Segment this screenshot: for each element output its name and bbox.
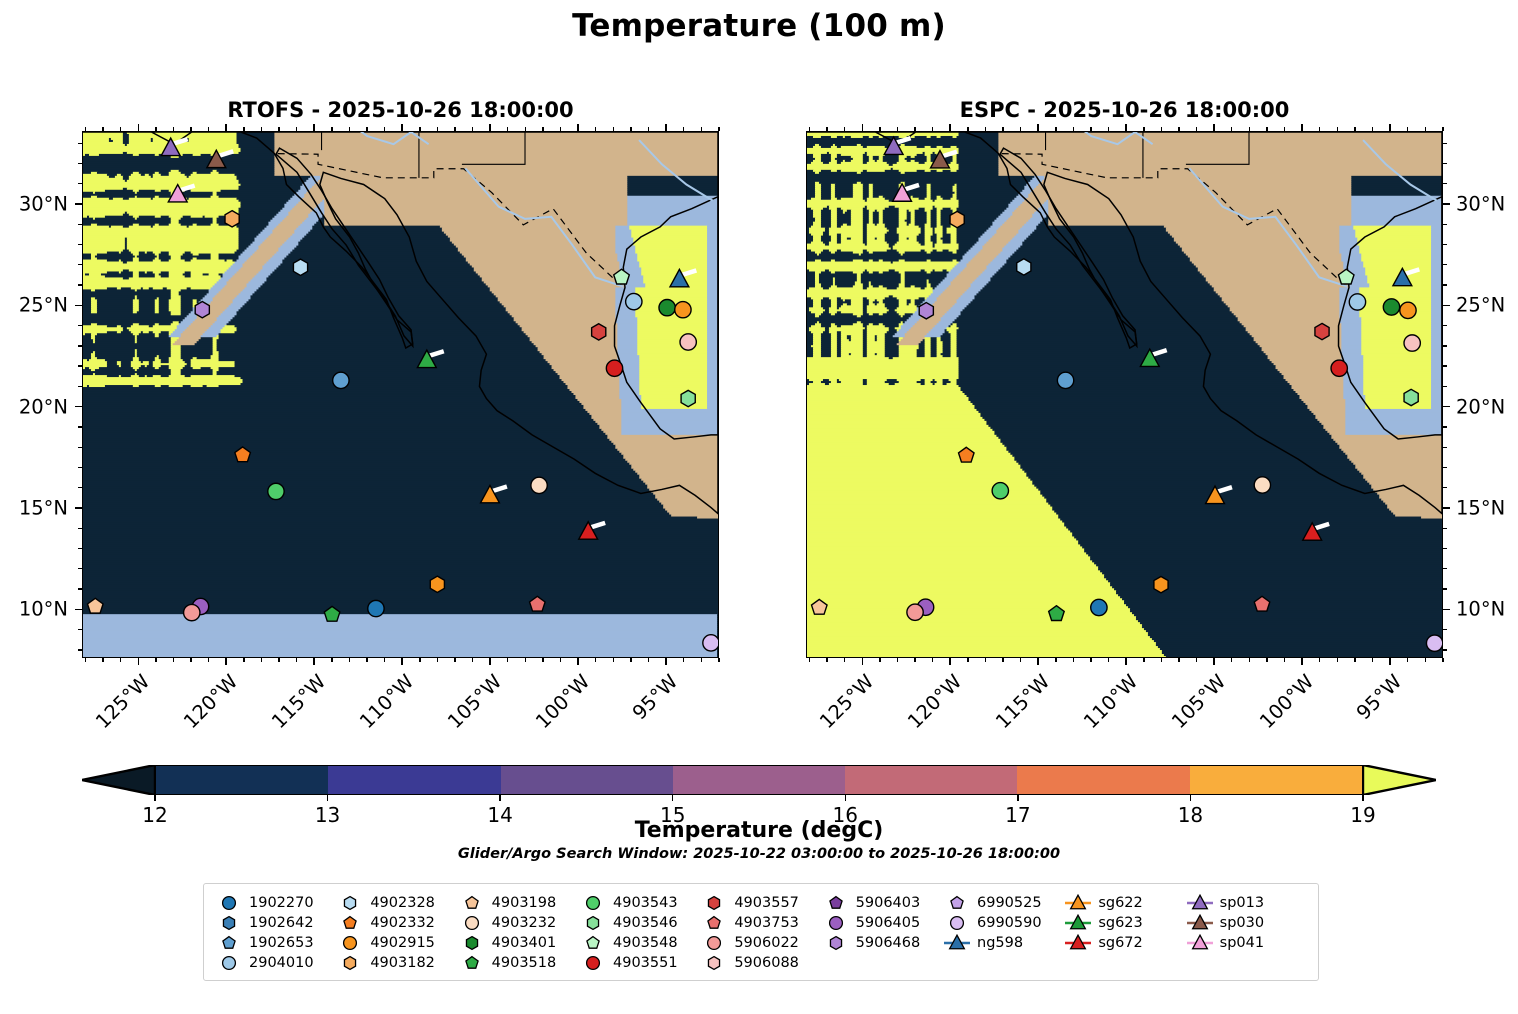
ytick-minor (1443, 629, 1447, 630)
xtick-minor (331, 658, 332, 662)
legend-item[interactable]: 5906405 (823, 913, 944, 933)
xtick-minor-top (208, 127, 209, 131)
xtick-minor-top (419, 127, 420, 131)
platform-legend: 1902270190264219026532904010490232849023… (203, 883, 1319, 981)
xtick-minor-top (1354, 127, 1355, 131)
legend-marker-icon (580, 914, 606, 932)
xtick-major (1301, 658, 1303, 665)
xtick-minor (1231, 658, 1232, 662)
colorbar-segment (845, 766, 1017, 794)
map-panel-espc: ESPC - 2025-10-26 18:00:00 (806, 131, 1443, 658)
xtick-minor (1284, 658, 1285, 662)
xtick-minor-top (1249, 127, 1250, 131)
ytick-minor (78, 264, 82, 265)
xtick-major (1389, 658, 1391, 665)
ytick-label: 10°N (0, 598, 68, 621)
xtick-label: 105°W (1152, 670, 1230, 748)
xtick-minor (914, 658, 915, 662)
legend-marker-icon (1187, 894, 1213, 912)
legend-marker-icon (337, 934, 363, 952)
legend-item-label: 5906022 (734, 934, 799, 952)
map-canvas-rtofs[interactable] (82, 131, 719, 658)
ytick-minor (1443, 284, 1447, 285)
ytick-major (1443, 406, 1450, 408)
legend-item[interactable]: 4903198 (459, 893, 580, 913)
legend-item[interactable]: 1902270 (216, 893, 337, 913)
legend-marker-icon (823, 894, 849, 912)
xtick-minor (967, 658, 968, 662)
xtick-minor-top (914, 127, 915, 131)
xtick-minor-top (1196, 127, 1197, 131)
legend-item-label: 4903518 (492, 954, 557, 972)
legend-item-label: 4903546 (613, 914, 678, 932)
colorbar-tick (672, 795, 674, 801)
xtick-minor (437, 658, 438, 662)
xtick-minor (1354, 658, 1355, 662)
xtick-major (862, 658, 864, 665)
legend-item-label: 4903198 (492, 894, 557, 912)
xtick-minor (630, 658, 631, 662)
xtick-major (401, 658, 403, 665)
legend-item-label: 4902915 (370, 934, 435, 952)
ytick-minor (78, 447, 82, 448)
ytick-major (75, 305, 82, 307)
xtick-minor-top (1055, 127, 1056, 131)
ytick-minor (78, 345, 82, 346)
xtick-major-top (1301, 124, 1303, 131)
ytick-label: 25°N (1456, 294, 1505, 317)
xtick-minor-top (261, 127, 262, 131)
xtick-minor-top (278, 127, 279, 131)
ytick-label: 20°N (0, 395, 68, 418)
ytick-minor (1443, 365, 1447, 366)
legend-marker-icon (459, 894, 485, 912)
xtick-minor (1108, 658, 1109, 662)
xtick-major (949, 658, 951, 665)
xtick-minor-top (897, 127, 898, 131)
xtick-minor (985, 658, 986, 662)
xtick-minor (1143, 658, 1144, 662)
xtick-major-top (401, 124, 403, 131)
xtick-minor-top (1372, 127, 1373, 131)
ytick-major (75, 406, 82, 408)
xtick-minor (844, 658, 845, 662)
legend-item[interactable]: 4903753 (701, 913, 822, 933)
legend-marker-icon (701, 934, 727, 952)
colorbar-label: Temperature (degC) (0, 818, 1518, 843)
legend-marker-icon (216, 954, 242, 972)
ytick-minor (78, 487, 82, 488)
xtick-minor (1196, 658, 1197, 662)
xtick-major (1037, 658, 1039, 665)
ytick-label: 30°N (1456, 192, 1505, 215)
ytick-minor (1443, 183, 1447, 184)
legend-item-label: sp030 (1220, 914, 1264, 932)
xtick-minor (1249, 658, 1250, 662)
xtick-minor (1090, 658, 1091, 662)
panel-title-rtofs: RTOFS - 2025-10-26 18:00:00 (82, 98, 719, 122)
legend-marker-icon (944, 914, 970, 932)
xtick-major-top (225, 124, 227, 131)
legend-item[interactable]: 1902642 (216, 913, 337, 933)
legend-item-label: ng598 (977, 934, 1023, 952)
legend-marker-icon (216, 914, 242, 932)
ytick-minor (78, 284, 82, 285)
xtick-minor-top (560, 127, 561, 131)
legend-item[interactable]: 4903543 (580, 893, 701, 913)
xtick-major-top (1037, 124, 1039, 131)
xtick-minor (879, 658, 880, 662)
xtick-label: 100°W (1240, 670, 1318, 748)
legend-item-label: sp013 (1220, 894, 1264, 912)
legend-item[interactable]: 5906468 (823, 933, 944, 953)
legend-item-label: 4903401 (492, 934, 557, 952)
legend-marker-icon (216, 934, 242, 952)
ytick-minor (1443, 143, 1447, 144)
legend-item-label: 4903543 (613, 894, 678, 912)
legend-marker-icon (580, 934, 606, 952)
xtick-minor-top (190, 127, 191, 131)
xtick-minor (613, 658, 614, 662)
xtick-minor (1319, 658, 1320, 662)
xtick-major-top (489, 124, 491, 131)
xtick-minor-top (613, 127, 614, 131)
xtick-label: 115°W (252, 670, 330, 748)
xtick-minor-top (879, 127, 880, 131)
ytick-minor (78, 386, 82, 387)
xtick-minor-top (542, 127, 543, 131)
legend-marker-icon (1065, 934, 1091, 952)
legend-item-label: 4902328 (370, 894, 435, 912)
xtick-label: 100°W (516, 670, 594, 748)
xtick-minor-top (331, 127, 332, 131)
legend-item-label: 1902642 (249, 914, 314, 932)
ytick-major (75, 609, 82, 611)
xtick-minor (932, 658, 933, 662)
xtick-minor (648, 658, 649, 662)
legend-item-label: 5906405 (856, 914, 921, 932)
legend-item[interactable]: 4903546 (580, 913, 701, 933)
legend-item-label: 6990525 (977, 894, 1042, 912)
ytick-major (1443, 609, 1450, 611)
xtick-minor-top (1337, 127, 1338, 131)
xtick-minor (349, 658, 350, 662)
xtick-minor (243, 658, 244, 662)
legend-item[interactable]: ng598 (944, 933, 1065, 953)
legend-marker-icon (1187, 934, 1213, 952)
xtick-major (1125, 658, 1127, 665)
xtick-minor (155, 658, 156, 662)
legend-item[interactable]: sp041 (1187, 933, 1308, 953)
xtick-minor-top (648, 127, 649, 131)
xtick-minor (718, 658, 719, 662)
xtick-minor (897, 658, 898, 662)
xtick-major-top (1125, 124, 1127, 131)
xtick-minor (1266, 658, 1267, 662)
xtick-minor-top (1090, 127, 1091, 131)
ytick-minor (1443, 528, 1447, 529)
legend-item[interactable]: sg623 (1065, 913, 1186, 933)
legend-item[interactable]: 5906088 (701, 953, 822, 973)
legend-marker-icon (701, 894, 727, 912)
colorbar-segment (328, 766, 500, 794)
xtick-minor-top (155, 127, 156, 131)
xtick-minor-top (1002, 127, 1003, 131)
xtick-major-top (949, 124, 951, 131)
map-canvas-espc[interactable] (806, 131, 1443, 658)
xtick-minor-top (826, 127, 827, 131)
ytick-minor (1443, 244, 1447, 245)
ytick-major (1443, 203, 1450, 205)
xtick-minor (454, 658, 455, 662)
xtick-minor-top (1319, 127, 1320, 131)
xtick-minor (173, 658, 174, 662)
ytick-major (75, 507, 82, 509)
colorbar-tick (1017, 795, 1019, 801)
legend-marker-icon (701, 954, 727, 972)
legend-item[interactable]: 2904010 (216, 953, 337, 973)
colorbar-tick (845, 795, 847, 801)
legend-item-label: 4903232 (492, 914, 557, 932)
xtick-minor-top (1143, 127, 1144, 131)
ytick-minor (1443, 426, 1447, 427)
xtick-minor-top (120, 127, 121, 131)
xtick-major-top (665, 124, 667, 131)
ytick-minor (1443, 548, 1447, 549)
legend-item-label: 4903182 (370, 954, 435, 972)
xtick-minor-top (1407, 127, 1408, 131)
legend-marker-icon (459, 954, 485, 972)
xtick-minor-top (472, 127, 473, 131)
colorbar-extend-min (82, 765, 155, 795)
legend-item-label: 4903753 (734, 914, 799, 932)
ytick-minor (1443, 345, 1447, 346)
colorbar-extend-max (1363, 765, 1436, 795)
legend-item[interactable]: 6990525 (944, 893, 1065, 913)
legend-item-label: 4903548 (613, 934, 678, 952)
colorbar-segment (673, 766, 845, 794)
ytick-minor (1443, 649, 1447, 650)
xtick-minor-top (630, 127, 631, 131)
legend-item[interactable]: 4903551 (580, 953, 701, 973)
xtick-minor (120, 658, 121, 662)
ytick-minor (78, 325, 82, 326)
ytick-label: 30°N (0, 192, 68, 215)
legend-item-label: 5906088 (734, 954, 799, 972)
xtick-minor (261, 658, 262, 662)
legend-item[interactable]: 6990590 (944, 913, 1065, 933)
xtick-minor (102, 658, 103, 662)
legend-marker-icon (701, 914, 727, 932)
xtick-minor (208, 658, 209, 662)
xtick-label: 125°W (76, 670, 154, 748)
ytick-label: 20°N (1456, 395, 1505, 418)
ytick-minor (78, 548, 82, 549)
xtick-label: 110°W (340, 670, 418, 748)
xtick-minor-top (1425, 127, 1426, 131)
legend-marker-icon (459, 914, 485, 932)
legend-item[interactable]: sp030 (1187, 913, 1308, 933)
ytick-minor (78, 568, 82, 569)
legend-marker-icon (459, 934, 485, 952)
xtick-minor (826, 658, 827, 662)
ytick-minor (78, 467, 82, 468)
legend-item[interactable]: 4903548 (580, 933, 701, 953)
xtick-minor-top (349, 127, 350, 131)
xtick-label: 95°W (1328, 670, 1406, 748)
legend-item-label: sg672 (1098, 934, 1142, 952)
colorbar: 1213141516171819 (82, 765, 1436, 795)
ytick-minor (78, 426, 82, 427)
xtick-label: 95°W (604, 670, 682, 748)
xtick-minor-top (985, 127, 986, 131)
ytick-minor (1443, 568, 1447, 569)
legend-item[interactable]: 4903232 (459, 913, 580, 933)
ytick-minor (1443, 588, 1447, 589)
xtick-major-top (862, 124, 864, 131)
xtick-major (313, 658, 315, 665)
ytick-minor (1443, 447, 1447, 448)
xtick-minor (85, 658, 86, 662)
xtick-major-top (1213, 124, 1215, 131)
ytick-minor (78, 629, 82, 630)
legend-item[interactable]: 4902915 (337, 933, 458, 953)
xtick-minor (1337, 658, 1338, 662)
legend-item[interactable]: 5906022 (701, 933, 822, 953)
legend-item-label: 6990590 (977, 914, 1042, 932)
xtick-minor-top (85, 127, 86, 131)
xtick-minor-top (507, 127, 508, 131)
ytick-major (1443, 507, 1450, 509)
ytick-major (75, 203, 82, 205)
ytick-minor (78, 528, 82, 529)
legend-marker-icon (337, 954, 363, 972)
legend-item[interactable]: sg622 (1065, 893, 1186, 913)
legend-item[interactable]: 4903518 (459, 953, 580, 973)
xtick-minor (560, 658, 561, 662)
legend-item-label: 4903551 (613, 954, 678, 972)
xtick-minor (1407, 658, 1408, 662)
xtick-minor-top (718, 127, 719, 131)
xtick-minor-top (384, 127, 385, 131)
xtick-minor (809, 658, 810, 662)
ytick-minor (78, 143, 82, 144)
xtick-minor-top (243, 127, 244, 131)
xtick-minor (525, 658, 526, 662)
legend-marker-icon (823, 934, 849, 952)
xtick-minor-top (1442, 127, 1443, 131)
xtick-minor-top (1073, 127, 1074, 131)
xtick-minor-top (701, 127, 702, 131)
legend-marker-icon (337, 894, 363, 912)
xtick-major (138, 658, 140, 665)
xtick-minor-top (595, 127, 596, 131)
xtick-minor (384, 658, 385, 662)
xtick-minor (366, 658, 367, 662)
legend-marker-icon (1187, 914, 1213, 932)
legend-item-label: sg623 (1098, 914, 1142, 932)
legend-item[interactable]: 4903557 (701, 893, 822, 913)
legend-item-label: 1902270 (249, 894, 314, 912)
xtick-minor (278, 658, 279, 662)
xtick-minor-top (683, 127, 684, 131)
map-panel-rtofs: RTOFS - 2025-10-26 18:00:00 (82, 131, 719, 658)
legend-item-label: 4903557 (734, 894, 799, 912)
xtick-major (665, 658, 667, 665)
colorbar-segment (1190, 766, 1362, 794)
xtick-minor-top (366, 127, 367, 131)
xtick-minor-top (1231, 127, 1232, 131)
xtick-major-top (138, 124, 140, 131)
xtick-minor (1020, 658, 1021, 662)
xtick-major (1213, 658, 1215, 665)
xtick-major (225, 658, 227, 665)
ytick-minor (78, 588, 82, 589)
legend-grid: 1902270190264219026532904010490232849023… (216, 893, 1308, 973)
xtick-minor (1178, 658, 1179, 662)
legend-item[interactable]: 4903401 (459, 933, 580, 953)
panel-title-espc: ESPC - 2025-10-26 18:00:00 (806, 98, 1443, 122)
ytick-label: 25°N (0, 294, 68, 317)
legend-item[interactable]: 4902332 (337, 913, 458, 933)
xtick-label: 125°W (800, 670, 878, 748)
ytick-minor (1443, 264, 1447, 265)
legend-item[interactable]: 1902653 (216, 933, 337, 953)
legend-item-label: 5906468 (856, 934, 921, 952)
legend-item[interactable]: 4902328 (337, 893, 458, 913)
ytick-minor (1443, 467, 1447, 468)
colorbar-tick (154, 795, 156, 801)
ytick-minor (78, 163, 82, 164)
legend-item[interactable]: sp013 (1187, 893, 1308, 913)
legend-item[interactable]: 5906403 (823, 893, 944, 913)
xtick-minor-top (296, 127, 297, 131)
xtick-minor (1055, 658, 1056, 662)
legend-marker-icon (580, 894, 606, 912)
xtick-minor-top (809, 127, 810, 131)
ytick-minor (78, 224, 82, 225)
xtick-minor-top (437, 127, 438, 131)
ytick-minor (1443, 163, 1447, 164)
xtick-major (577, 658, 579, 665)
colorbar-tick (327, 795, 329, 801)
ytick-minor (1443, 487, 1447, 488)
xtick-minor-top (967, 127, 968, 131)
xtick-major-top (577, 124, 579, 131)
colorbar-tick (499, 795, 501, 801)
legend-marker-icon (1065, 914, 1091, 932)
xtick-minor (472, 658, 473, 662)
colorbar-gradient (155, 765, 1363, 795)
xtick-minor-top (932, 127, 933, 131)
legend-marker-icon (337, 914, 363, 932)
legend-marker-icon (823, 914, 849, 932)
colorbar-segment (1017, 766, 1189, 794)
xtick-minor-top (1161, 127, 1162, 131)
xtick-minor (683, 658, 684, 662)
xtick-minor (595, 658, 596, 662)
xtick-label: 110°W (1064, 670, 1142, 748)
legend-item[interactable]: 4903182 (337, 953, 458, 973)
legend-item[interactable]: sg672 (1065, 933, 1186, 953)
legend-marker-icon (944, 894, 970, 912)
xtick-minor-top (1266, 127, 1267, 131)
xtick-minor (1425, 658, 1426, 662)
map-field-rtofs (83, 132, 718, 657)
xtick-minor-top (173, 127, 174, 131)
xtick-minor (1002, 658, 1003, 662)
legend-item-label: 2904010 (249, 954, 314, 972)
